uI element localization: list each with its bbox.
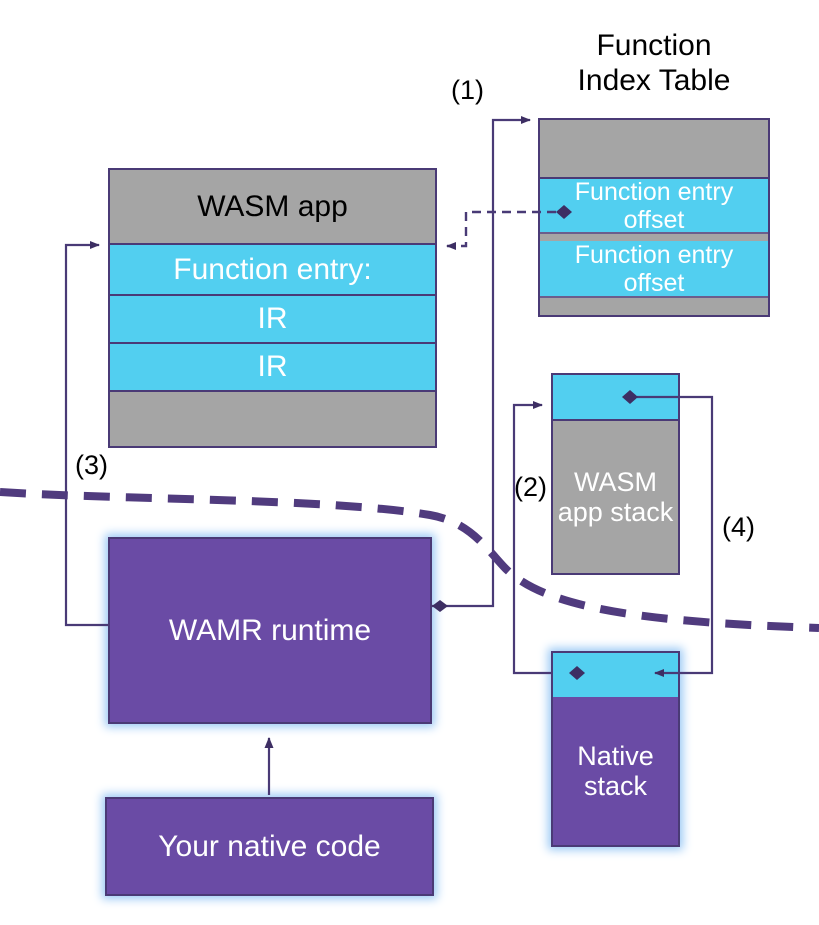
wamr-runtime-right-diamond-1 — [432, 600, 448, 612]
diagram-canvas: Function Index Table Function entry offs… — [0, 0, 819, 925]
wasm-app-row-tail — [110, 392, 435, 446]
fit-row-1-function-entry-offset[interactable]: Function entry offset — [540, 177, 768, 234]
native-code-block[interactable]: Your native code — [105, 797, 434, 896]
wasm-app-row-ir-1[interactable]: IR — [110, 296, 435, 344]
wasm-app-stack-block[interactable]: WASM app stack — [551, 373, 680, 575]
native-stack-top-slot[interactable] — [553, 653, 678, 697]
wire-step-2 — [514, 405, 551, 673]
function-index-table-heading: Function Index Table — [538, 28, 770, 99]
wasm-app-block[interactable]: WASM app Function entry: IR IR — [108, 168, 437, 448]
wire-step-1 — [432, 120, 530, 606]
native-stack-label-line2: stack — [584, 771, 647, 801]
wamr-runtime-block[interactable]: WAMR runtime — [108, 537, 432, 724]
fit-row-3-function-entry-offset[interactable]: Function entry offset — [540, 241, 768, 298]
native-code-label: Your native code — [158, 830, 380, 864]
step-label-1: (1) — [451, 75, 484, 106]
fit-row-1-label: Function entry offset — [540, 178, 768, 234]
wasm-app-row-function-entry[interactable]: Function entry: — [110, 243, 435, 296]
step-label-2: (2) — [514, 472, 547, 503]
wamr-runtime-label: WAMR runtime — [169, 614, 371, 648]
wasm-app-stack-label-line2: app stack — [558, 497, 674, 527]
wasm-app-row-function-entry-label: Function entry: — [173, 253, 371, 287]
step-label-4: (4) — [722, 512, 755, 543]
fit-row-4-footer — [540, 298, 768, 315]
wire-step-3 — [66, 245, 108, 625]
native-stack-label-line1: Native — [577, 741, 654, 771]
wasm-app-row-ir-1-label: IR — [258, 302, 288, 336]
wasm-app-title: WASM app — [110, 170, 435, 243]
function-index-table[interactable]: Function entry offset Function entry off… — [538, 118, 770, 317]
wasm-app-stack-top-slot[interactable] — [553, 375, 678, 421]
function-index-table-heading-line2: Index Table — [538, 63, 770, 98]
wasm-app-row-ir-2-label: IR — [258, 350, 288, 384]
native-stack-block[interactable]: Native stack — [551, 651, 680, 847]
wasm-app-stack-body: WASM app stack — [553, 421, 678, 573]
native-stack-body: Native stack — [553, 697, 678, 845]
wasm-app-stack-label-line1: WASM — [574, 467, 657, 497]
fit-row-3-label: Function entry offset — [540, 241, 768, 297]
step-label-3: (3) — [75, 450, 108, 481]
fit-row-0 — [540, 120, 768, 177]
wasm-app-row-ir-2[interactable]: IR — [110, 344, 435, 392]
function-index-table-heading-line1: Function — [538, 28, 770, 63]
wasm-app-title-label: WASM app — [197, 190, 348, 224]
